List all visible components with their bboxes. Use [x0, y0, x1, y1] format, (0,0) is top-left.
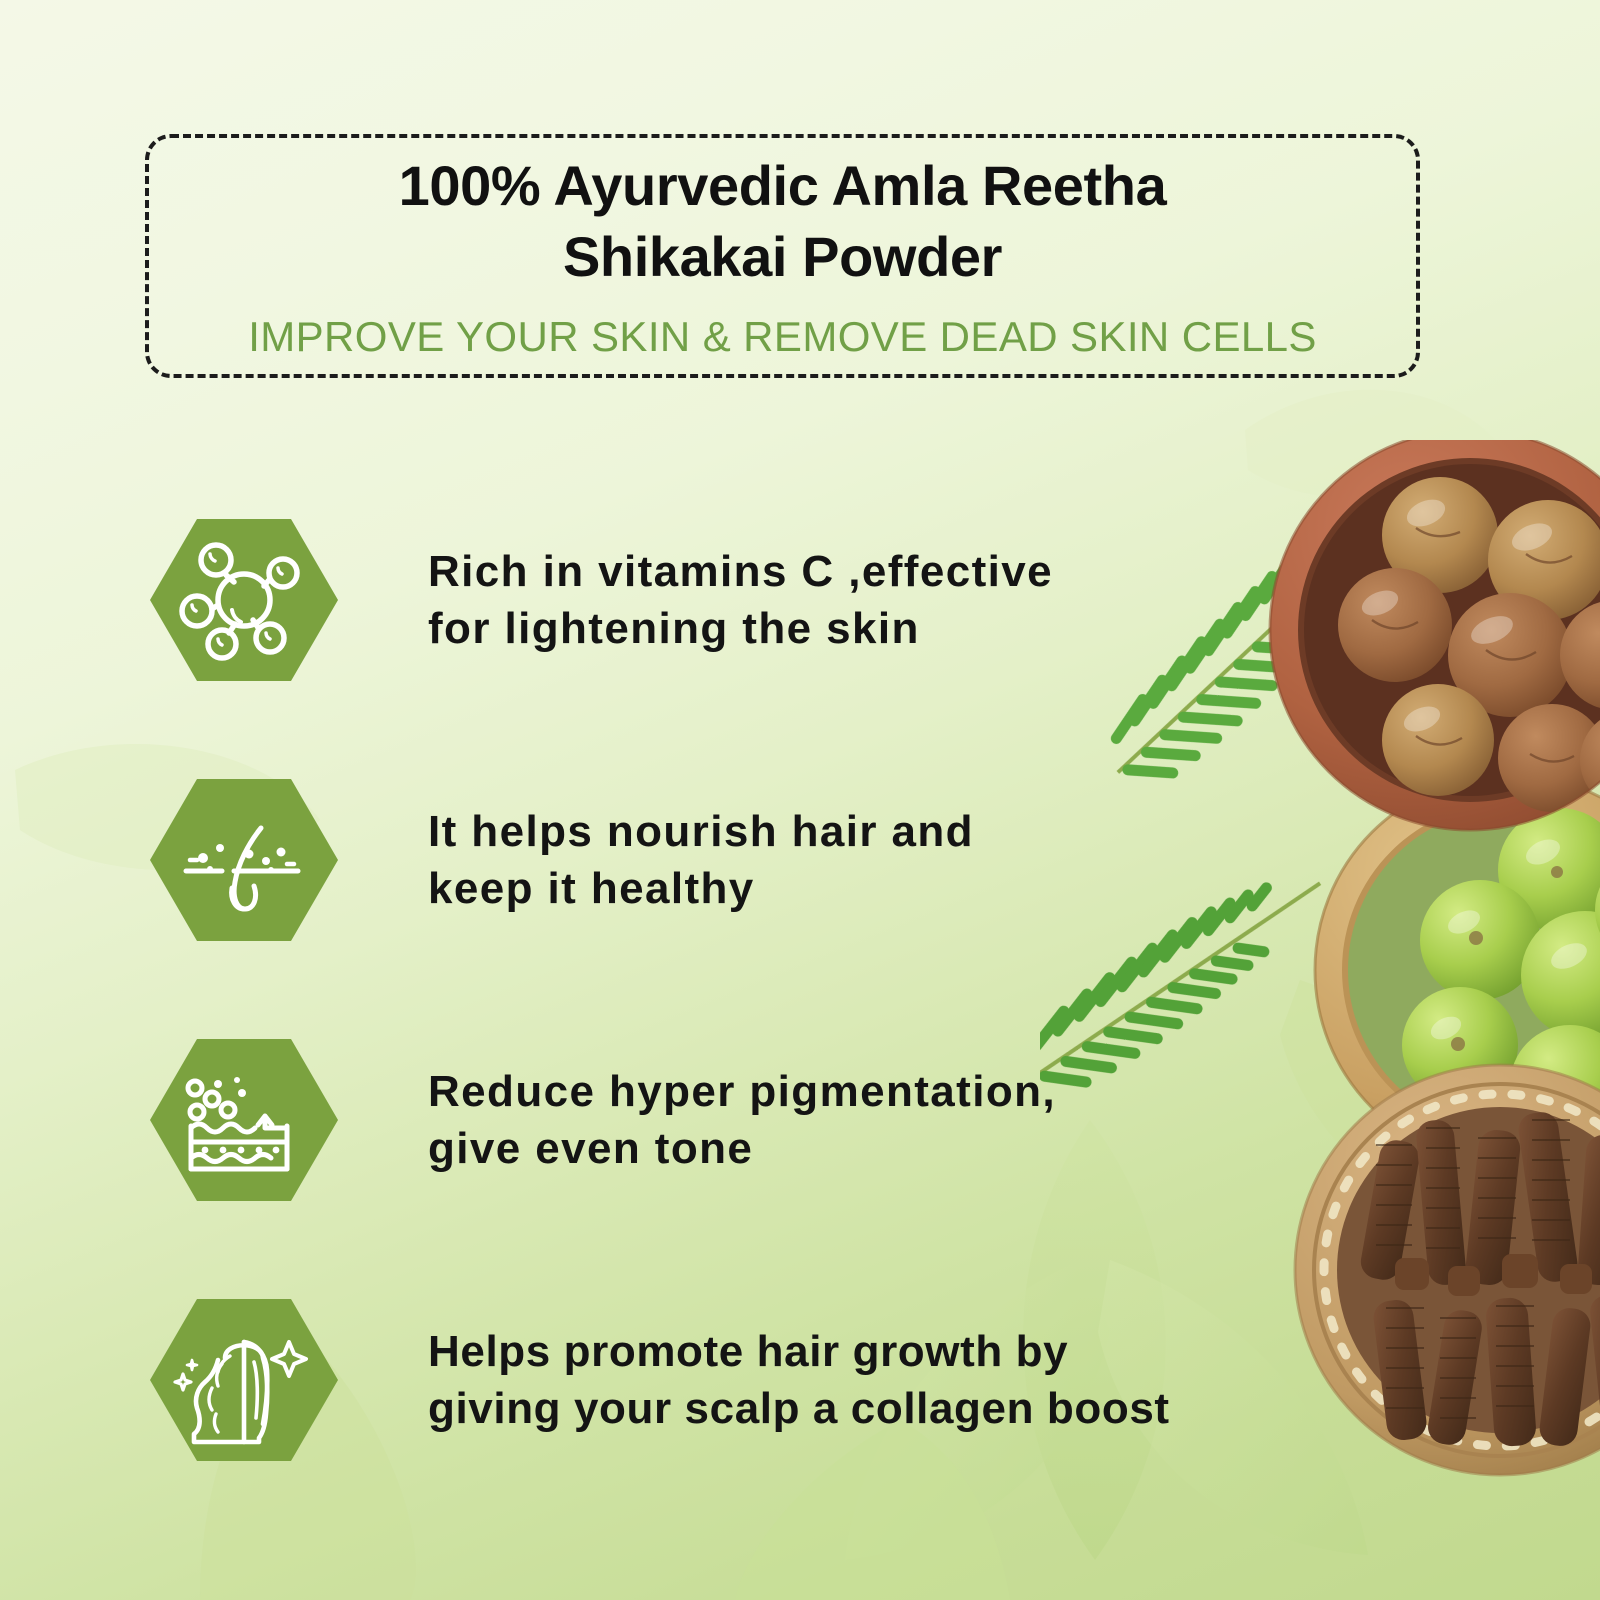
feature-row: Reduce hyper pigmentation, give even ton…: [0, 990, 1600, 1250]
header-banner: 100% Ayurvedic Amla Reetha Shikakai Powd…: [145, 134, 1420, 378]
feature-row: Helps promote hair growth by giving your…: [0, 1250, 1600, 1510]
feature-text-line-1: It helps nourish hair and: [428, 803, 974, 860]
feature-text-line-2: giving your scalp a collagen boost: [428, 1380, 1170, 1437]
feature-text-line-2: keep it healthy: [428, 860, 974, 917]
feature-row: It helps nourish hair and keep it health…: [0, 730, 1600, 990]
page-subtitle: IMPROVE YOUR SKIN & REMOVE DEAD SKIN CEL…: [248, 313, 1317, 361]
feature-text-line-2: give even tone: [428, 1120, 1056, 1177]
feature-icon-hexagon: [150, 1296, 338, 1464]
feature-list: Rich in vitamins C ,effective for lighte…: [0, 470, 1600, 1510]
feature-text-line-1: Reduce hyper pigmentation,: [428, 1063, 1056, 1120]
feature-text: Helps promote hair growth by giving your…: [428, 1323, 1170, 1437]
feature-text-line-1: Helps promote hair growth by: [428, 1323, 1170, 1380]
infographic-canvas: 100% Ayurvedic Amla Reetha Shikakai Powd…: [0, 0, 1600, 1600]
page-title-line-2: Shikakai Powder: [563, 222, 1002, 293]
feature-row: Rich in vitamins C ,effective for lighte…: [0, 470, 1600, 730]
feature-text: It helps nourish hair and keep it health…: [428, 803, 974, 917]
feature-text: Reduce hyper pigmentation, give even ton…: [428, 1063, 1056, 1177]
feature-icon-hexagon: [150, 516, 338, 684]
feature-icon-hexagon: [150, 776, 338, 944]
page-title-line-1: 100% Ayurvedic Amla Reetha: [399, 151, 1167, 222]
feature-text-line-2: for lightening the skin: [428, 600, 1053, 657]
feature-text: Rich in vitamins C ,effective for lighte…: [428, 543, 1053, 657]
feature-icon-hexagon: [150, 1036, 338, 1204]
feature-text-line-1: Rich in vitamins C ,effective: [428, 543, 1053, 600]
